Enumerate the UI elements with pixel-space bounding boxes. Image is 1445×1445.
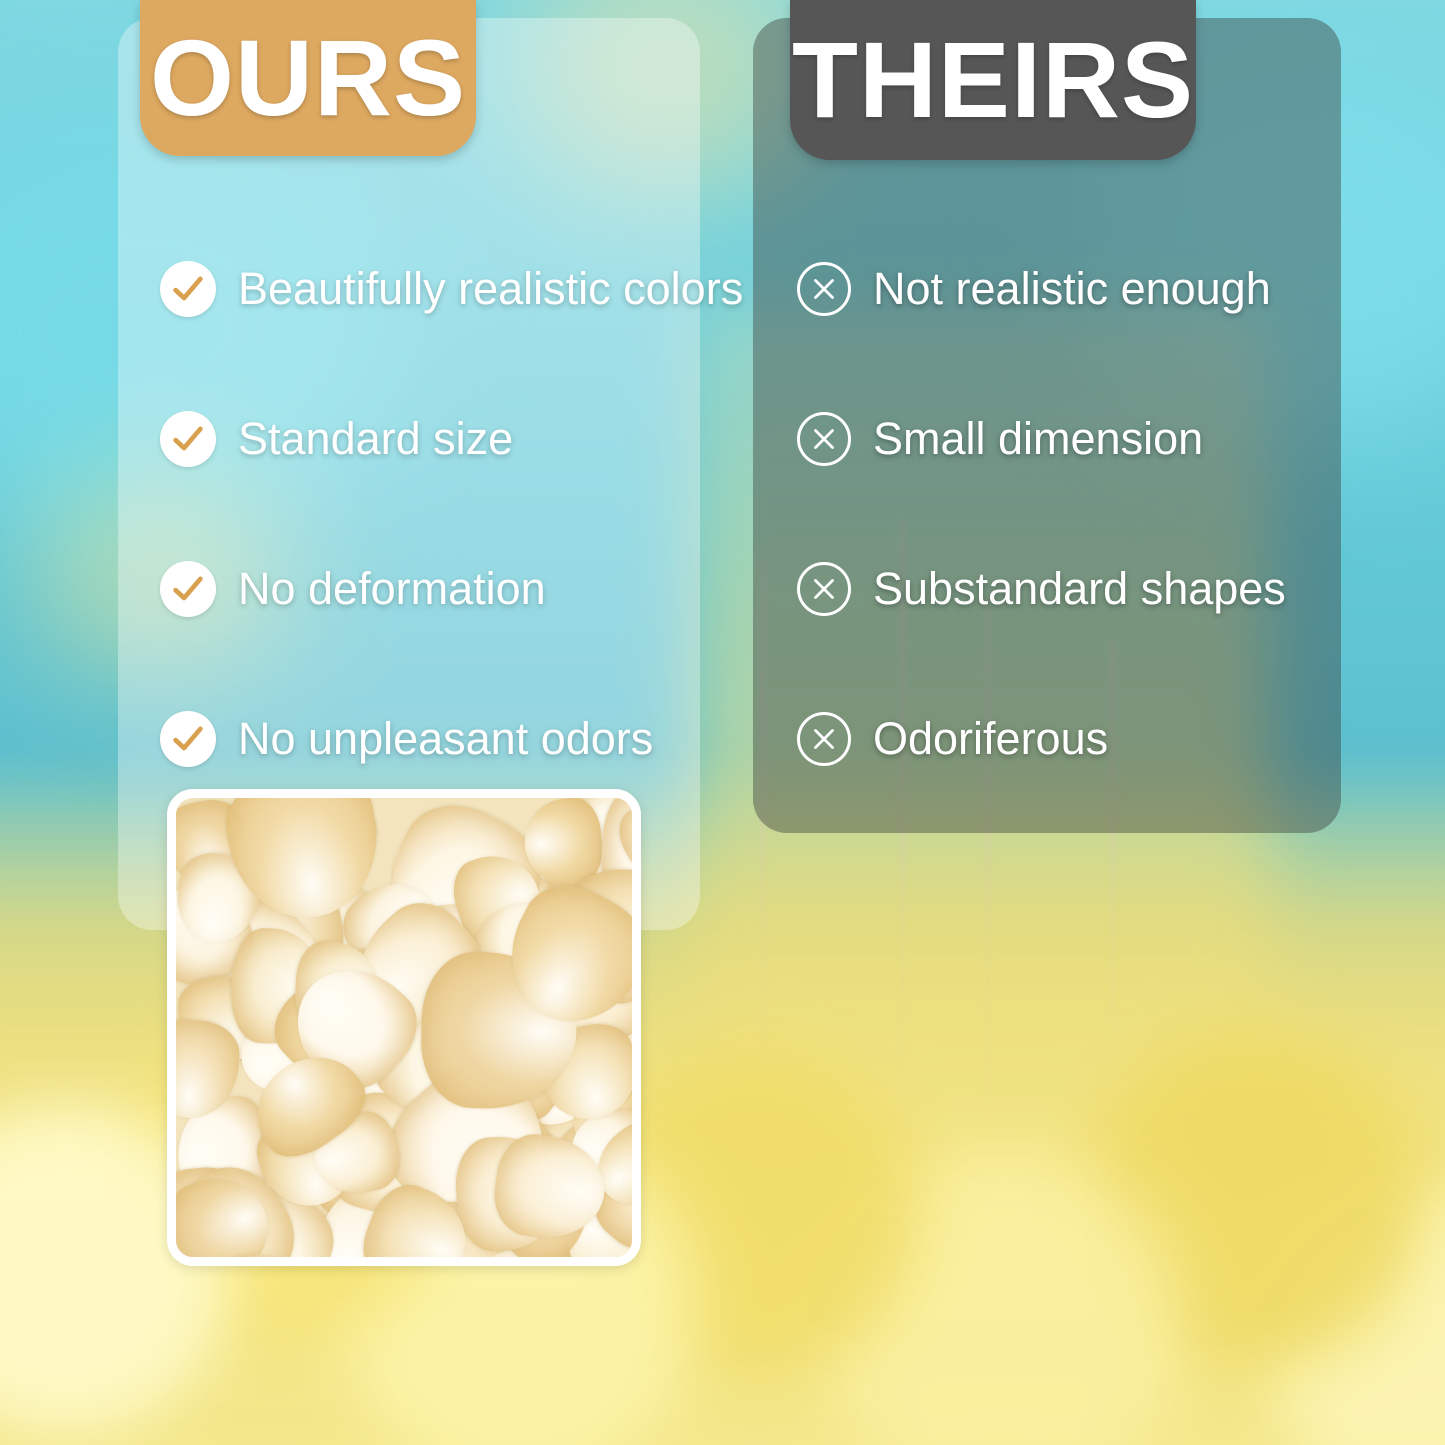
ours-feature-label: No unpleasant odors xyxy=(238,715,653,762)
list-item: Not realistic enough xyxy=(777,214,1341,364)
list-item: Standard size xyxy=(140,364,700,514)
theirs-feature-list: Not realistic enough Small dimension Sub… xyxy=(753,214,1341,814)
check-icon xyxy=(160,411,216,467)
list-item: Substandard shapes xyxy=(777,514,1341,664)
check-icon xyxy=(160,561,216,617)
list-item: Small dimension xyxy=(777,364,1341,514)
cross-circle-icon xyxy=(797,562,851,616)
product-photo-inset xyxy=(167,789,641,1266)
list-item: Odoriferous xyxy=(777,664,1341,814)
list-item: No deformation xyxy=(140,514,700,664)
theirs-feature-label: Odoriferous xyxy=(873,715,1108,762)
check-icon xyxy=(160,711,216,767)
theirs-feature-label: Substandard shapes xyxy=(873,565,1286,612)
check-icon xyxy=(160,261,216,317)
ours-feature-label: Standard size xyxy=(238,415,513,462)
theirs-badge: THEIRS xyxy=(790,0,1196,160)
ours-badge-label: OURS xyxy=(150,24,466,132)
cross-circle-icon xyxy=(797,262,851,316)
list-item: Beautifully realistic colors xyxy=(140,214,700,364)
ours-feature-list: Beautifully realistic colors Standard si… xyxy=(118,214,700,814)
theirs-feature-label: Not realistic enough xyxy=(873,265,1271,312)
theirs-badge-label: THEIRS xyxy=(792,26,1194,134)
ours-badge: OURS xyxy=(140,0,476,156)
cross-circle-icon xyxy=(797,412,851,466)
ours-feature-label: No deformation xyxy=(238,565,546,612)
petal-image xyxy=(176,798,632,1257)
cross-circle-icon xyxy=(797,712,851,766)
ours-feature-label: Beautifully realistic colors xyxy=(238,265,743,312)
theirs-feature-label: Small dimension xyxy=(873,415,1203,462)
